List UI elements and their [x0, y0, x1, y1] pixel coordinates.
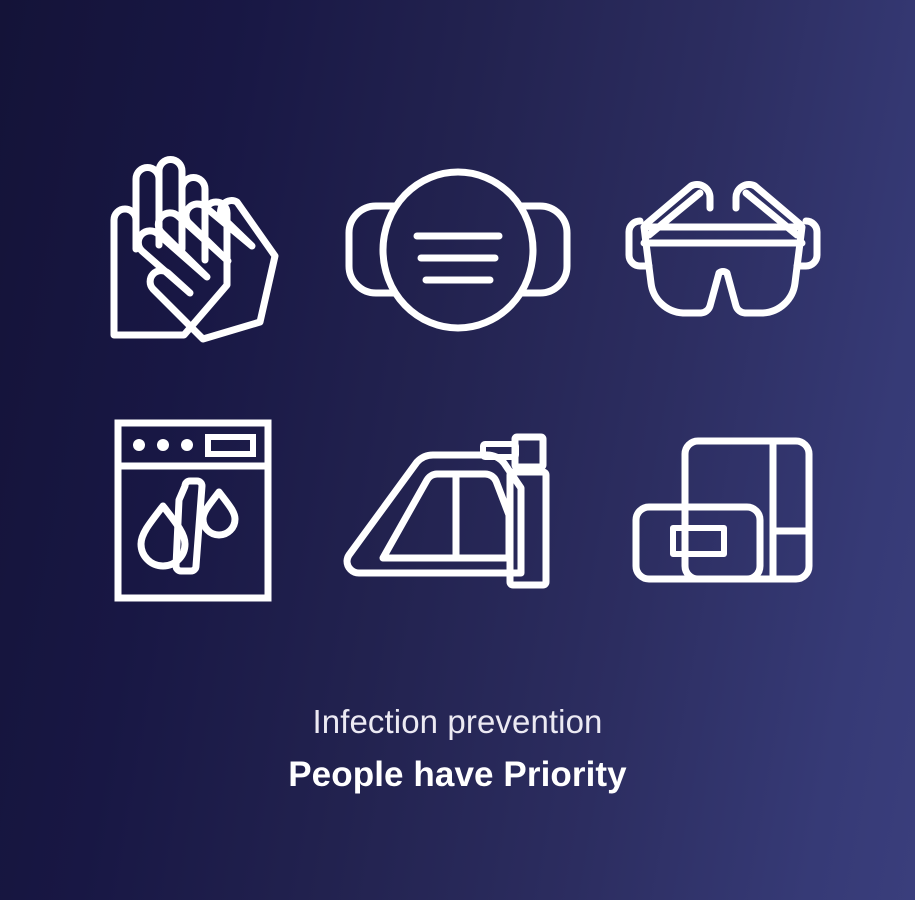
caption-block: Infection prevention People have Priorit… — [0, 700, 915, 800]
sterilization-tray-spray-icon — [343, 428, 573, 593]
poster-canvas: Infection prevention People have Priorit… — [0, 0, 915, 900]
protective-gloves-icon — [100, 153, 285, 348]
caption-tagline: People have Priority — [0, 750, 915, 800]
icon-grid — [60, 120, 855, 640]
safety-goggles-icon — [623, 163, 823, 338]
icon-cell-face-mask — [325, 120, 590, 380]
sterile-packaging-icon — [630, 435, 815, 585]
icon-cell-safety-goggles — [590, 120, 855, 380]
icon-cell-gloves — [60, 120, 325, 380]
washer-disinfector-icon — [113, 418, 273, 603]
icon-cell-sterilization-tray — [325, 380, 590, 640]
caption-headline: Infection prevention — [0, 700, 915, 744]
icon-cell-sterile-packaging — [590, 380, 855, 640]
icon-cell-washer-disinfector — [60, 380, 325, 640]
face-mask-icon — [338, 168, 578, 333]
